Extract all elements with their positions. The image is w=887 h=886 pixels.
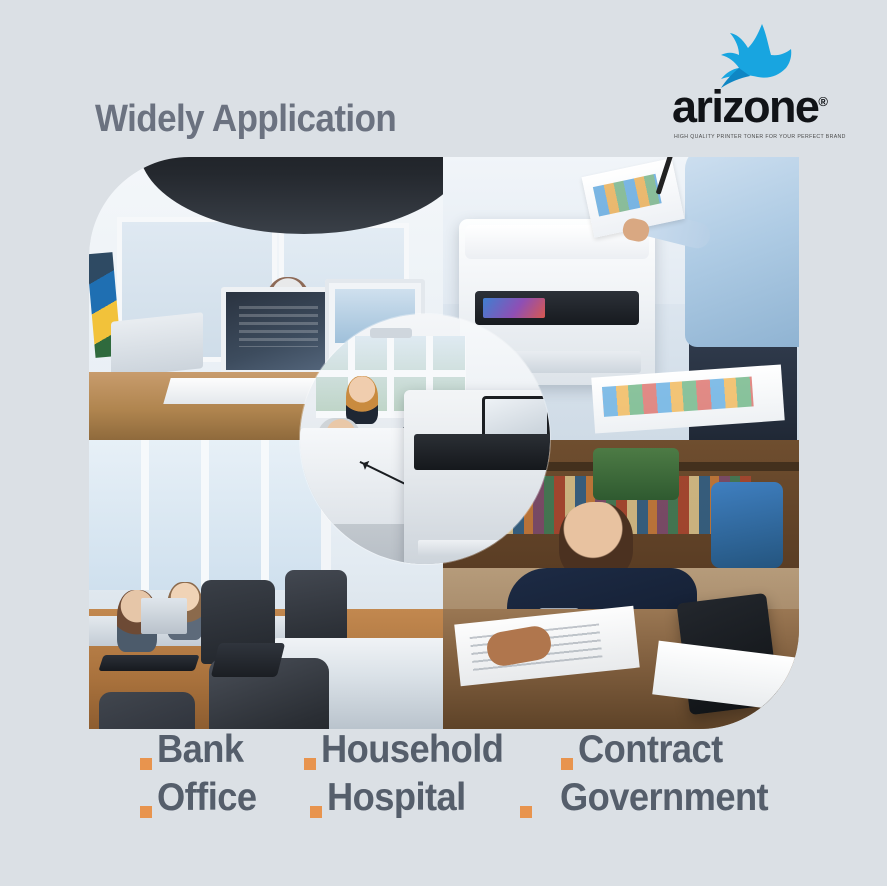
brand-logo: arizone® HIGH QUALITY PRINTER TONER FOR …	[672, 22, 832, 140]
photo-copier-office-circle	[300, 314, 550, 564]
application-photo-collage	[89, 157, 799, 729]
registered-mark: ®	[818, 94, 828, 109]
keyword-bank: Bank	[140, 728, 250, 772]
bullet-square-icon	[310, 806, 322, 818]
bullet-square-icon	[304, 758, 316, 770]
application-keyword-list: Bank Household Contract Office Hospital	[140, 728, 860, 820]
bullet-square-icon	[561, 758, 573, 770]
keyword-row-2: Office Hospital Government	[140, 776, 860, 820]
keyword-row-1: Bank Household Contract	[140, 728, 860, 772]
brand-tagline: HIGH QUALITY PRINTER TONER FOR YOUR PERF…	[674, 134, 833, 140]
keyword-office: Office	[140, 776, 264, 820]
keyword-label: Contract	[578, 728, 723, 772]
keyword-hospital: Hospital	[310, 776, 476, 820]
keyword-label: Household	[321, 728, 503, 772]
keyword-government: Government	[520, 776, 784, 820]
bullet-square-icon	[140, 758, 152, 770]
keyword-label: Bank	[157, 728, 243, 772]
page-title: Widely Application	[95, 98, 396, 141]
keyword-household: Household	[304, 728, 517, 772]
brand-wordmark: arizone®	[672, 84, 832, 129]
poster-canvas: Widely Application arizone® HIGH QUALITY…	[0, 0, 887, 886]
keyword-label: Office	[157, 776, 256, 820]
keyword-contract: Contract	[561, 728, 734, 772]
bullet-square-icon	[520, 806, 532, 818]
keyword-label: Government	[560, 776, 768, 820]
bullet-square-icon	[140, 806, 152, 818]
keyword-label: Hospital	[327, 776, 466, 820]
bird-icon	[706, 22, 792, 90]
